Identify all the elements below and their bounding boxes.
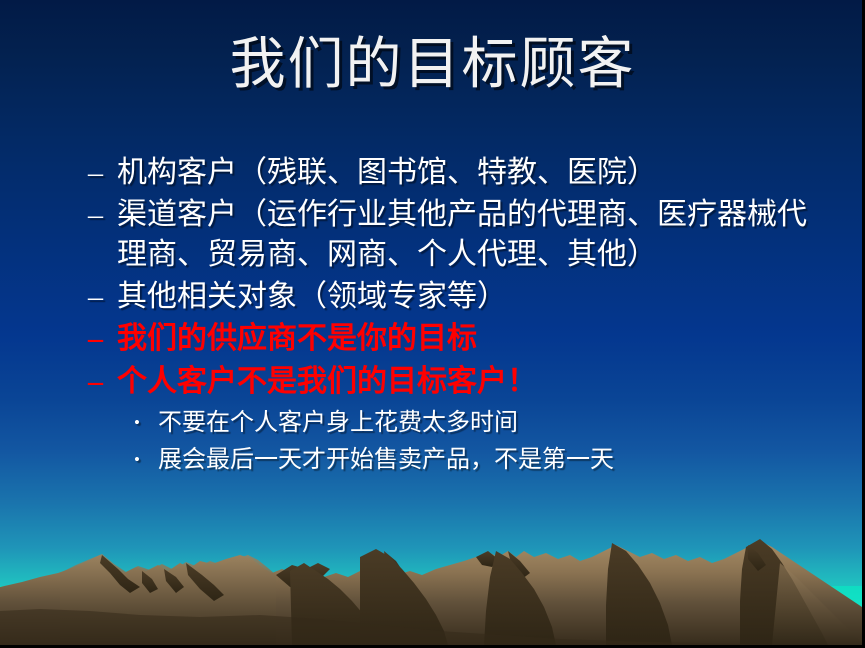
sub-bullet-text-2: 展会最后一天才开始售卖产品，不是第一天 — [158, 442, 828, 478]
dash-bullet-icon: – — [88, 153, 117, 193]
dot-bullet-icon: • — [134, 405, 158, 441]
dot-bullet-icon: • — [134, 442, 158, 478]
bullet-item-2: – 渠道客户（运作行业其他产品的代理商、医疗器械代理商、贸易商、网商、个人代理、… — [88, 195, 828, 275]
bullet-item-3: – 其他相关对象（领域专家等） — [88, 277, 828, 317]
bullet-text-3: 其他相关对象（领域专家等） — [117, 277, 828, 317]
dash-bullet-icon: – — [88, 277, 117, 317]
sub-bullet-text-1: 不要在个人客户身上花费太多时间 — [158, 405, 828, 441]
dash-bullet-icon: – — [88, 319, 117, 359]
dash-bullet-icon: – — [88, 195, 117, 235]
slide-body: – 机构客户（残联、图书馆、特教、医院） – 渠道客户（运作行业其他产品的代理商… — [88, 153, 828, 479]
bullet-item-4-emphasis: – 我们的供应商不是你的目标 — [88, 319, 828, 359]
bullet-text-2: 渠道客户（运作行业其他产品的代理商、医疗器械代理商、贸易商、网商、个人代理、其他… — [117, 195, 828, 275]
bullet-text-4: 我们的供应商不是你的目标 — [117, 319, 828, 359]
mountain-range-silhouette — [0, 515, 865, 645]
bullet-text-1: 机构客户（残联、图书馆、特教、医院） — [117, 153, 828, 193]
sub-bullet-item-1: • 不要在个人客户身上花费太多时间 — [134, 405, 828, 441]
bullet-text-5: 个人客户不是我们的目标客户！ — [117, 362, 828, 402]
presentation-slide: 我们的目标顾客 – 机构客户（残联、图书馆、特教、医院） – 渠道客户（运作行业… — [0, 0, 865, 648]
bullet-item-1: – 机构客户（残联、图书馆、特教、医院） — [88, 153, 828, 193]
slide-title: 我们的目标顾客 — [0, 36, 865, 95]
bullet-item-5-emphasis: – 个人客户不是我们的目标客户！ — [88, 362, 828, 402]
dash-bullet-icon: – — [88, 362, 117, 402]
sub-bullet-item-2: • 展会最后一天才开始售卖产品，不是第一天 — [134, 442, 828, 478]
